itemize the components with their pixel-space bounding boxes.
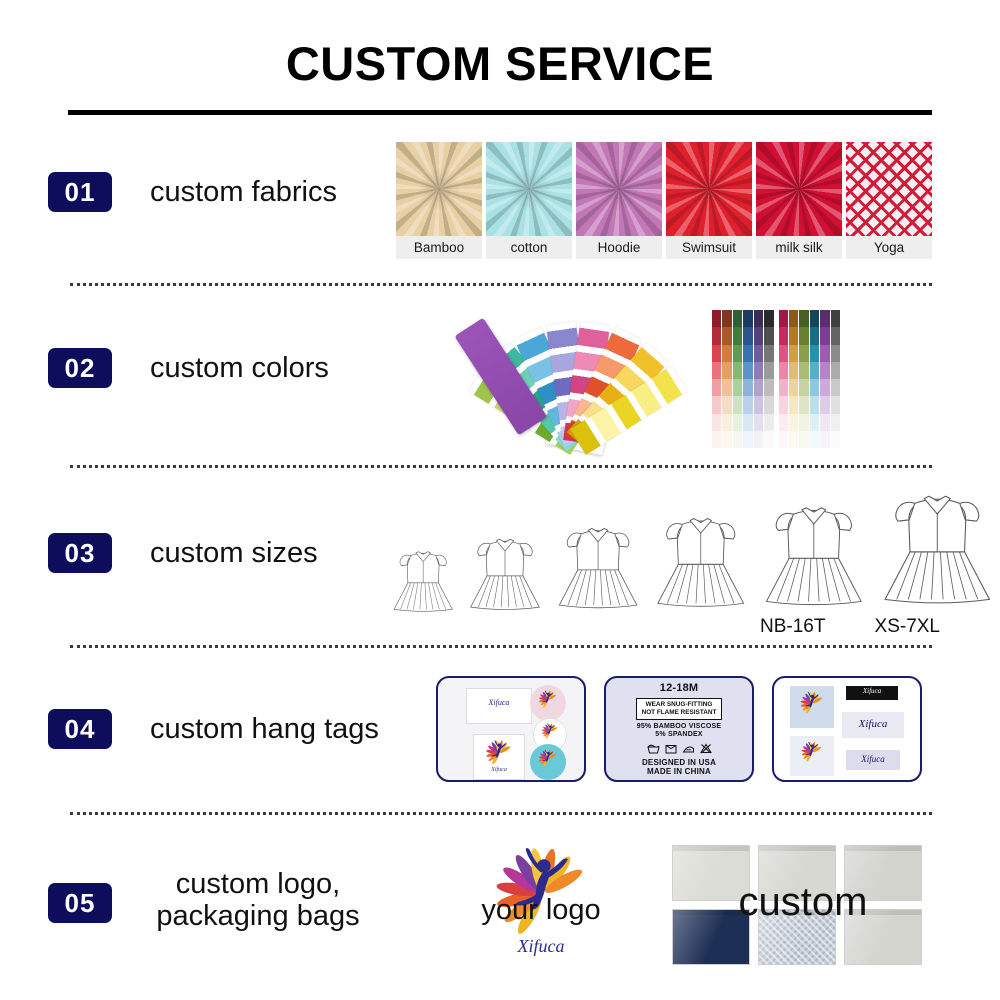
row-label-custom-sizes: custom sizes [150, 537, 318, 569]
iron-icon [682, 743, 695, 754]
yoga-mesh-pattern [846, 142, 932, 236]
dancer-logo-icon [539, 722, 561, 739]
sticker-circle-pink [530, 685, 566, 721]
row-badge-04: 04 [48, 709, 112, 749]
care-origin: DESIGNED IN USA MADE IN CHINA [642, 758, 716, 776]
thread-color-column [764, 310, 773, 448]
page-title: CUSTOM SERVICE [0, 36, 1000, 91]
fabric-label-swimsuit: Swimsuit [666, 236, 752, 259]
hang-tag-list: Xifuca Xifuca 12-18M WEAR SNUG-FITTING N… [436, 676, 922, 782]
dress-size-4[interactable] [652, 497, 750, 627]
fabric-label-yoga: Yoga [846, 236, 932, 259]
dancer-logo-icon [798, 690, 826, 714]
dress-size-3[interactable] [554, 509, 642, 627]
woven-label-small-strip: Xifuca [846, 750, 900, 770]
thread-color-cell [764, 442, 773, 448]
thread-color-cell [831, 442, 840, 448]
row-label-custom-logo-packaging: custom logo, packaging bags [148, 868, 368, 933]
dress-size-5[interactable] [760, 484, 868, 627]
divider-4 [70, 812, 932, 815]
fabric-swatch-bamboo[interactable]: Bamboo [396, 142, 482, 259]
brand-logo[interactable]: your logo Xifuca [466, 838, 616, 966]
thread-color-cell [722, 442, 731, 448]
do-not-bleach-icon [700, 743, 712, 754]
dress-size-6[interactable] [878, 470, 997, 627]
thread-color-column [779, 310, 788, 448]
sticker-rect-bottom: Xifuca [473, 734, 525, 780]
fabric-label-hoodie: Hoodie [576, 236, 662, 259]
dress-outline [466, 522, 544, 622]
care-composition-line-2: 5% SPANDEX [637, 731, 722, 739]
divider-2 [70, 465, 932, 468]
row-label-custom-fabrics: custom fabrics [150, 176, 337, 208]
dress-size-list [390, 470, 996, 627]
thread-chart-panel-right [779, 310, 841, 448]
woven-label-small-script: Xifuca [846, 754, 900, 764]
fabric-image-milk-silk [756, 142, 842, 236]
thread-chart-panel-left [712, 310, 774, 448]
row-badge-05: 05 [48, 883, 112, 923]
thread-color-cell [789, 442, 798, 448]
thread-color-column [743, 310, 752, 448]
fabric-image-yoga [846, 142, 932, 236]
title-rule [68, 110, 932, 115]
sticker-rect-top: Xifuca [466, 688, 532, 724]
dancer-logo-icon [481, 738, 517, 765]
fabric-label-milk-silk: milk silk [756, 236, 842, 259]
dancer-logo-svg [536, 748, 560, 767]
thread-color-column [810, 310, 819, 448]
fabric-image-cotton [486, 142, 572, 236]
thread-color-chart[interactable] [710, 308, 842, 450]
care-warning-line-2: NOT FLAME RESISTANT [642, 709, 717, 717]
fabric-swatch-yoga[interactable]: Yoga [846, 142, 932, 259]
thread-color-column [799, 310, 808, 448]
dress-size-1[interactable] [390, 537, 456, 627]
thread-color-column [820, 310, 829, 448]
care-origin-line-1: DESIGNED IN USA [642, 758, 716, 767]
dancer-logo-svg [481, 738, 517, 765]
care-label-warning: WEAR SNUG-FITTING NOT FLAME RESISTANT [636, 698, 723, 720]
dress-outline [760, 484, 868, 622]
wash-tub-icon [647, 743, 660, 754]
care-symbol-row [647, 743, 712, 754]
fabric-swatch-milk-silk[interactable]: milk silk [756, 142, 842, 259]
dress-outline [390, 537, 456, 622]
fabric-image-bamboo [396, 142, 482, 236]
dancer-logo-icon [536, 689, 560, 708]
size-caption-adult: XS-7XL [875, 616, 940, 638]
woven-label-square-grey [790, 736, 834, 776]
size-range-captions: NB-16T XS-7XL [760, 616, 940, 638]
fabric-image-hoodie [576, 142, 662, 236]
dancer-logo-icon [536, 748, 560, 767]
thread-color-column [831, 310, 840, 448]
woven-label-large-strip: Xifuca [842, 712, 904, 738]
fabric-label-cotton: cotton [486, 236, 572, 259]
dancer-logo-icon [798, 740, 826, 762]
logo-placeholder-text: your logo [466, 894, 616, 927]
thread-color-cell [712, 442, 721, 448]
woven-label-large-script: Xifuca [842, 718, 904, 730]
dancer-logo-svg [798, 690, 826, 714]
color-fan-deck[interactable] [468, 300, 698, 450]
hang-tag-stickers-card[interactable]: Xifuca Xifuca [436, 676, 586, 782]
fabric-swatch-list: Bamboo cotton Hoodie Swimsuit milk silk … [396, 142, 932, 259]
dancer-logo-svg [798, 740, 826, 762]
care-label-card[interactable]: 12-18M WEAR SNUG-FITTING NOT FLAME RESIS… [604, 676, 754, 782]
woven-label-square-blue [790, 686, 834, 728]
thread-color-column [754, 310, 763, 448]
woven-label-black-script: Xifuca [846, 687, 898, 695]
fabric-label-bamboo: Bamboo [396, 236, 482, 259]
care-composition-line-1: 95% BAMBOO VISCOSE [637, 723, 722, 731]
fabric-swatch-cotton[interactable]: cotton [486, 142, 572, 259]
care-warning-line-1: WEAR SNUG-FITTING [642, 701, 717, 709]
thread-color-column [789, 310, 798, 448]
thread-color-cell [733, 442, 742, 448]
dress-size-2[interactable] [466, 522, 544, 627]
thread-color-column [733, 310, 742, 448]
row-badge-03: 03 [48, 533, 112, 573]
sticker-rect-bottom-script: Xifuca [474, 767, 524, 773]
packaging-custom-text: custom [672, 880, 934, 925]
fabric-swatch-hoodie[interactable]: Hoodie [576, 142, 662, 259]
thread-color-cell [820, 442, 829, 448]
thread-color-cell [743, 442, 752, 448]
woven-label-black-strip: Xifuca [846, 686, 898, 700]
thread-color-column [712, 310, 721, 448]
dancer-logo-svg [536, 689, 560, 708]
thread-color-column [722, 310, 731, 448]
thread-color-cell [779, 442, 788, 448]
care-label-size: 12-18M [660, 682, 699, 695]
custom-service-page: CUSTOM SERVICE 01 custom fabrics Bamboo … [0, 0, 1000, 1000]
row-badge-01: 01 [48, 172, 112, 212]
row-label-custom-hang-tags: custom hang tags [150, 713, 379, 745]
size-caption-kids: NB-16T [760, 616, 825, 638]
thread-color-cell [799, 442, 808, 448]
dancer-logo-svg [539, 722, 561, 739]
dress-outline [652, 497, 750, 622]
fabric-swatch-swimsuit[interactable]: Swimsuit [666, 142, 752, 259]
care-origin-line-2: MADE IN CHINA [642, 767, 716, 776]
care-composition: 95% BAMBOO VISCOSE 5% SPANDEX [637, 723, 722, 739]
divider-1 [70, 283, 932, 286]
divider-3 [70, 645, 932, 648]
row-badge-02: 02 [48, 348, 112, 388]
thread-color-cell [810, 442, 819, 448]
woven-label-card[interactable]: Xifuca Xifuca Xifuca [772, 676, 922, 782]
dress-outline [554, 509, 642, 622]
sticker-rect-top-script: Xifuca [467, 698, 531, 707]
sticker-circle-teal [530, 744, 566, 780]
fabric-image-swimsuit [666, 142, 752, 236]
dress-outline [878, 470, 997, 622]
row-label-custom-colors: custom colors [150, 352, 329, 384]
logo-brand-script: Xifuca [466, 936, 616, 957]
thread-color-cell [754, 442, 763, 448]
tumble-dry-icon [665, 743, 677, 754]
